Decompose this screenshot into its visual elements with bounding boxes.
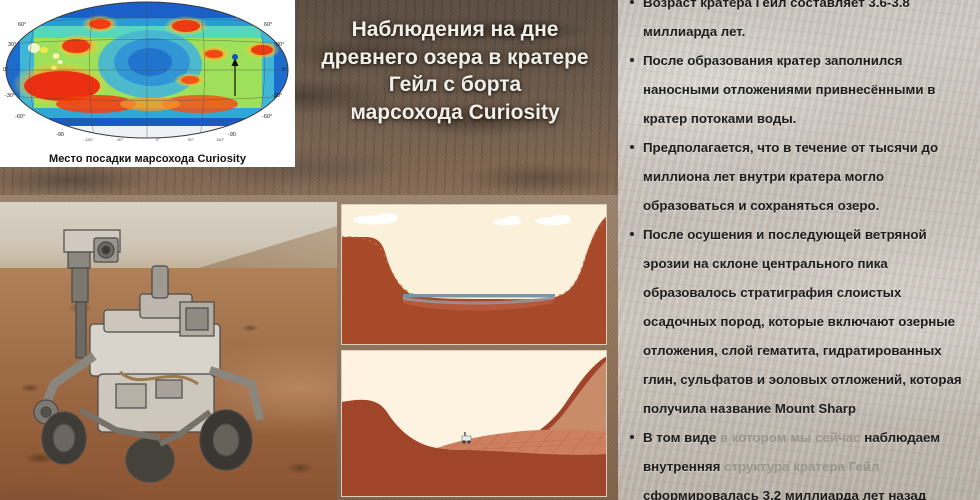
map-caption: Место посадки марсохода Curiosity	[0, 153, 295, 165]
slide-root: 60°60° 30°30° 0°0° -30°-30° -60°-60° -90…	[0, 0, 980, 500]
rover-illustration	[20, 224, 320, 494]
bullet-dot-icon	[630, 435, 634, 439]
bullet-dot-icon	[630, 58, 634, 62]
diagram-crater-mount-sharp	[341, 350, 607, 497]
crater-lake-svg	[341, 204, 607, 345]
bullet-text: Возраст кратера Гейл составляет 3.6-3.8 …	[643, 0, 910, 39]
lake-water	[403, 294, 555, 297]
bullet-text: После осушения и последующей ветряной эр…	[643, 227, 962, 416]
svg-text:-30°: -30°	[5, 93, 15, 99]
bullet-age: Возраст кратера Гейл составляет 3.6-3.8 …	[618, 0, 980, 46]
bullet-text: Предполагается, что в течение от тысячи …	[643, 140, 938, 213]
bullet-sediments: После образования кратер заполнился нано…	[618, 46, 980, 133]
bullet-text-panel: Возраст кратера Гейл составляет 3.6-3.8 …	[618, 0, 980, 500]
bullet-text-washed: структура кратера Гейл	[724, 459, 879, 474]
svg-text:-90: -90	[228, 132, 236, 138]
svg-text:-90: -90	[56, 132, 64, 138]
curiosity-rover-photo	[0, 202, 337, 500]
svg-text:0°: 0°	[3, 67, 8, 73]
bullet-text: После образования кратер заполнился нано…	[643, 53, 935, 126]
svg-text:0°: 0°	[156, 137, 160, 142]
svg-text:-90°: -90°	[116, 137, 124, 142]
mola-map-svg: 60°60° 30°30° 0°0° -30°-30° -60°-60° -90…	[0, 0, 295, 147]
svg-text:60°: 60°	[264, 22, 272, 28]
svg-text:30°: 30°	[8, 42, 16, 48]
bullet-lake-duration: Предполагается, что в течение от тысячи …	[618, 133, 980, 220]
svg-text:90°: 90°	[188, 137, 194, 142]
bullet-dot-icon	[630, 232, 634, 236]
svg-text:-60°: -60°	[262, 114, 272, 120]
slide-title: Наблюдения на дне древнего озера в крате…	[300, 16, 610, 127]
svg-text:-180°: -180°	[84, 137, 94, 142]
mount-sharp-svg	[341, 350, 607, 497]
bullet-dot-icon	[630, 0, 634, 4]
bullet-dot-icon	[630, 145, 634, 149]
bullet-list: Возраст кратера Гейл составляет 3.6-3.8 …	[618, 0, 980, 500]
map-image: 60°60° 30°30° 0°0° -30°-30° -60°-60° -90…	[0, 0, 295, 147]
svg-text:-30°: -30°	[272, 93, 282, 99]
svg-text:30°: 30°	[276, 42, 284, 48]
bullet-current-structure: В том виде в котором мы сейчас наблюдаем…	[618, 423, 980, 500]
bullet-text-washed: в котором мы сейчас	[720, 430, 861, 445]
bullet-text: В том виде	[643, 430, 720, 445]
mars-topographic-map-card: 60°60° 30°30° 0°0° -30°-30° -60°-60° -90…	[0, 0, 295, 167]
bullet-text: сформировалась 3.2 миллиарда лет назад	[643, 488, 926, 500]
diagram-crater-with-lake	[341, 204, 607, 345]
svg-text:-60°: -60°	[15, 114, 25, 120]
bullet-stratigraphy: После осушения и последующей ветряной эр…	[618, 220, 980, 423]
svg-text:0°: 0°	[282, 67, 287, 73]
svg-text:180°: 180°	[216, 137, 225, 142]
svg-text:60°: 60°	[18, 22, 26, 28]
